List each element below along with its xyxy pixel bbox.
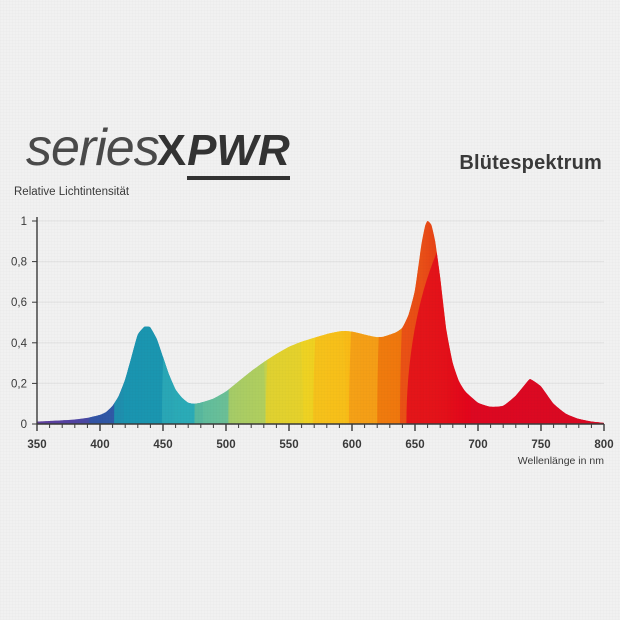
x-tick-label: 500 — [216, 439, 235, 451]
spectrum-svg: 10,80,60,40,20 3504004505005506006507007… — [0, 0, 620, 620]
spectrum-bands — [32, 181, 615, 620]
x-tick-labels: 350400450500550600650700750800 — [27, 439, 613, 451]
spectrum-band — [32, 181, 124, 620]
y-axis-title: Relative Lichtintensität — [14, 186, 129, 198]
logo-text-series: series — [26, 119, 159, 177]
chart-title: Blütespektrum — [459, 152, 602, 175]
y-tick-label: 0,6 — [11, 297, 27, 309]
x-tick-label: 600 — [342, 439, 361, 451]
y-tick-labels: 10,80,60,40,20 — [11, 216, 28, 431]
x-tick-label: 800 — [594, 439, 613, 451]
x-tick-label: 550 — [279, 439, 298, 451]
x-tick-label: 700 — [468, 439, 487, 451]
y-tick-label: 0,8 — [11, 257, 27, 269]
x-axis-title: Wellenlänge in nm — [0, 455, 604, 467]
spectrum-band — [114, 181, 203, 620]
spectrum-curve — [32, 181, 615, 620]
spectrum-chart: 10,80,60,40,20 3504004505005506006507007… — [0, 0, 620, 620]
x-tick-label: 350 — [27, 439, 46, 451]
brand-logo: seriesXPWR — [26, 118, 290, 178]
x-tick-label: 650 — [405, 439, 424, 451]
y-tick-label: 1 — [21, 216, 27, 228]
y-tick-label: 0,4 — [11, 338, 28, 350]
spectrum-band — [470, 181, 611, 620]
x-tick-label: 450 — [153, 439, 172, 451]
y-tick-label: 0 — [21, 419, 27, 431]
x-tick-label: 750 — [531, 439, 550, 451]
logo-text-pwr: PWR — [187, 126, 290, 180]
y-tick-label: 0,2 — [11, 378, 27, 390]
logo-text-x: X — [157, 126, 186, 175]
x-tick-label: 400 — [90, 439, 109, 451]
